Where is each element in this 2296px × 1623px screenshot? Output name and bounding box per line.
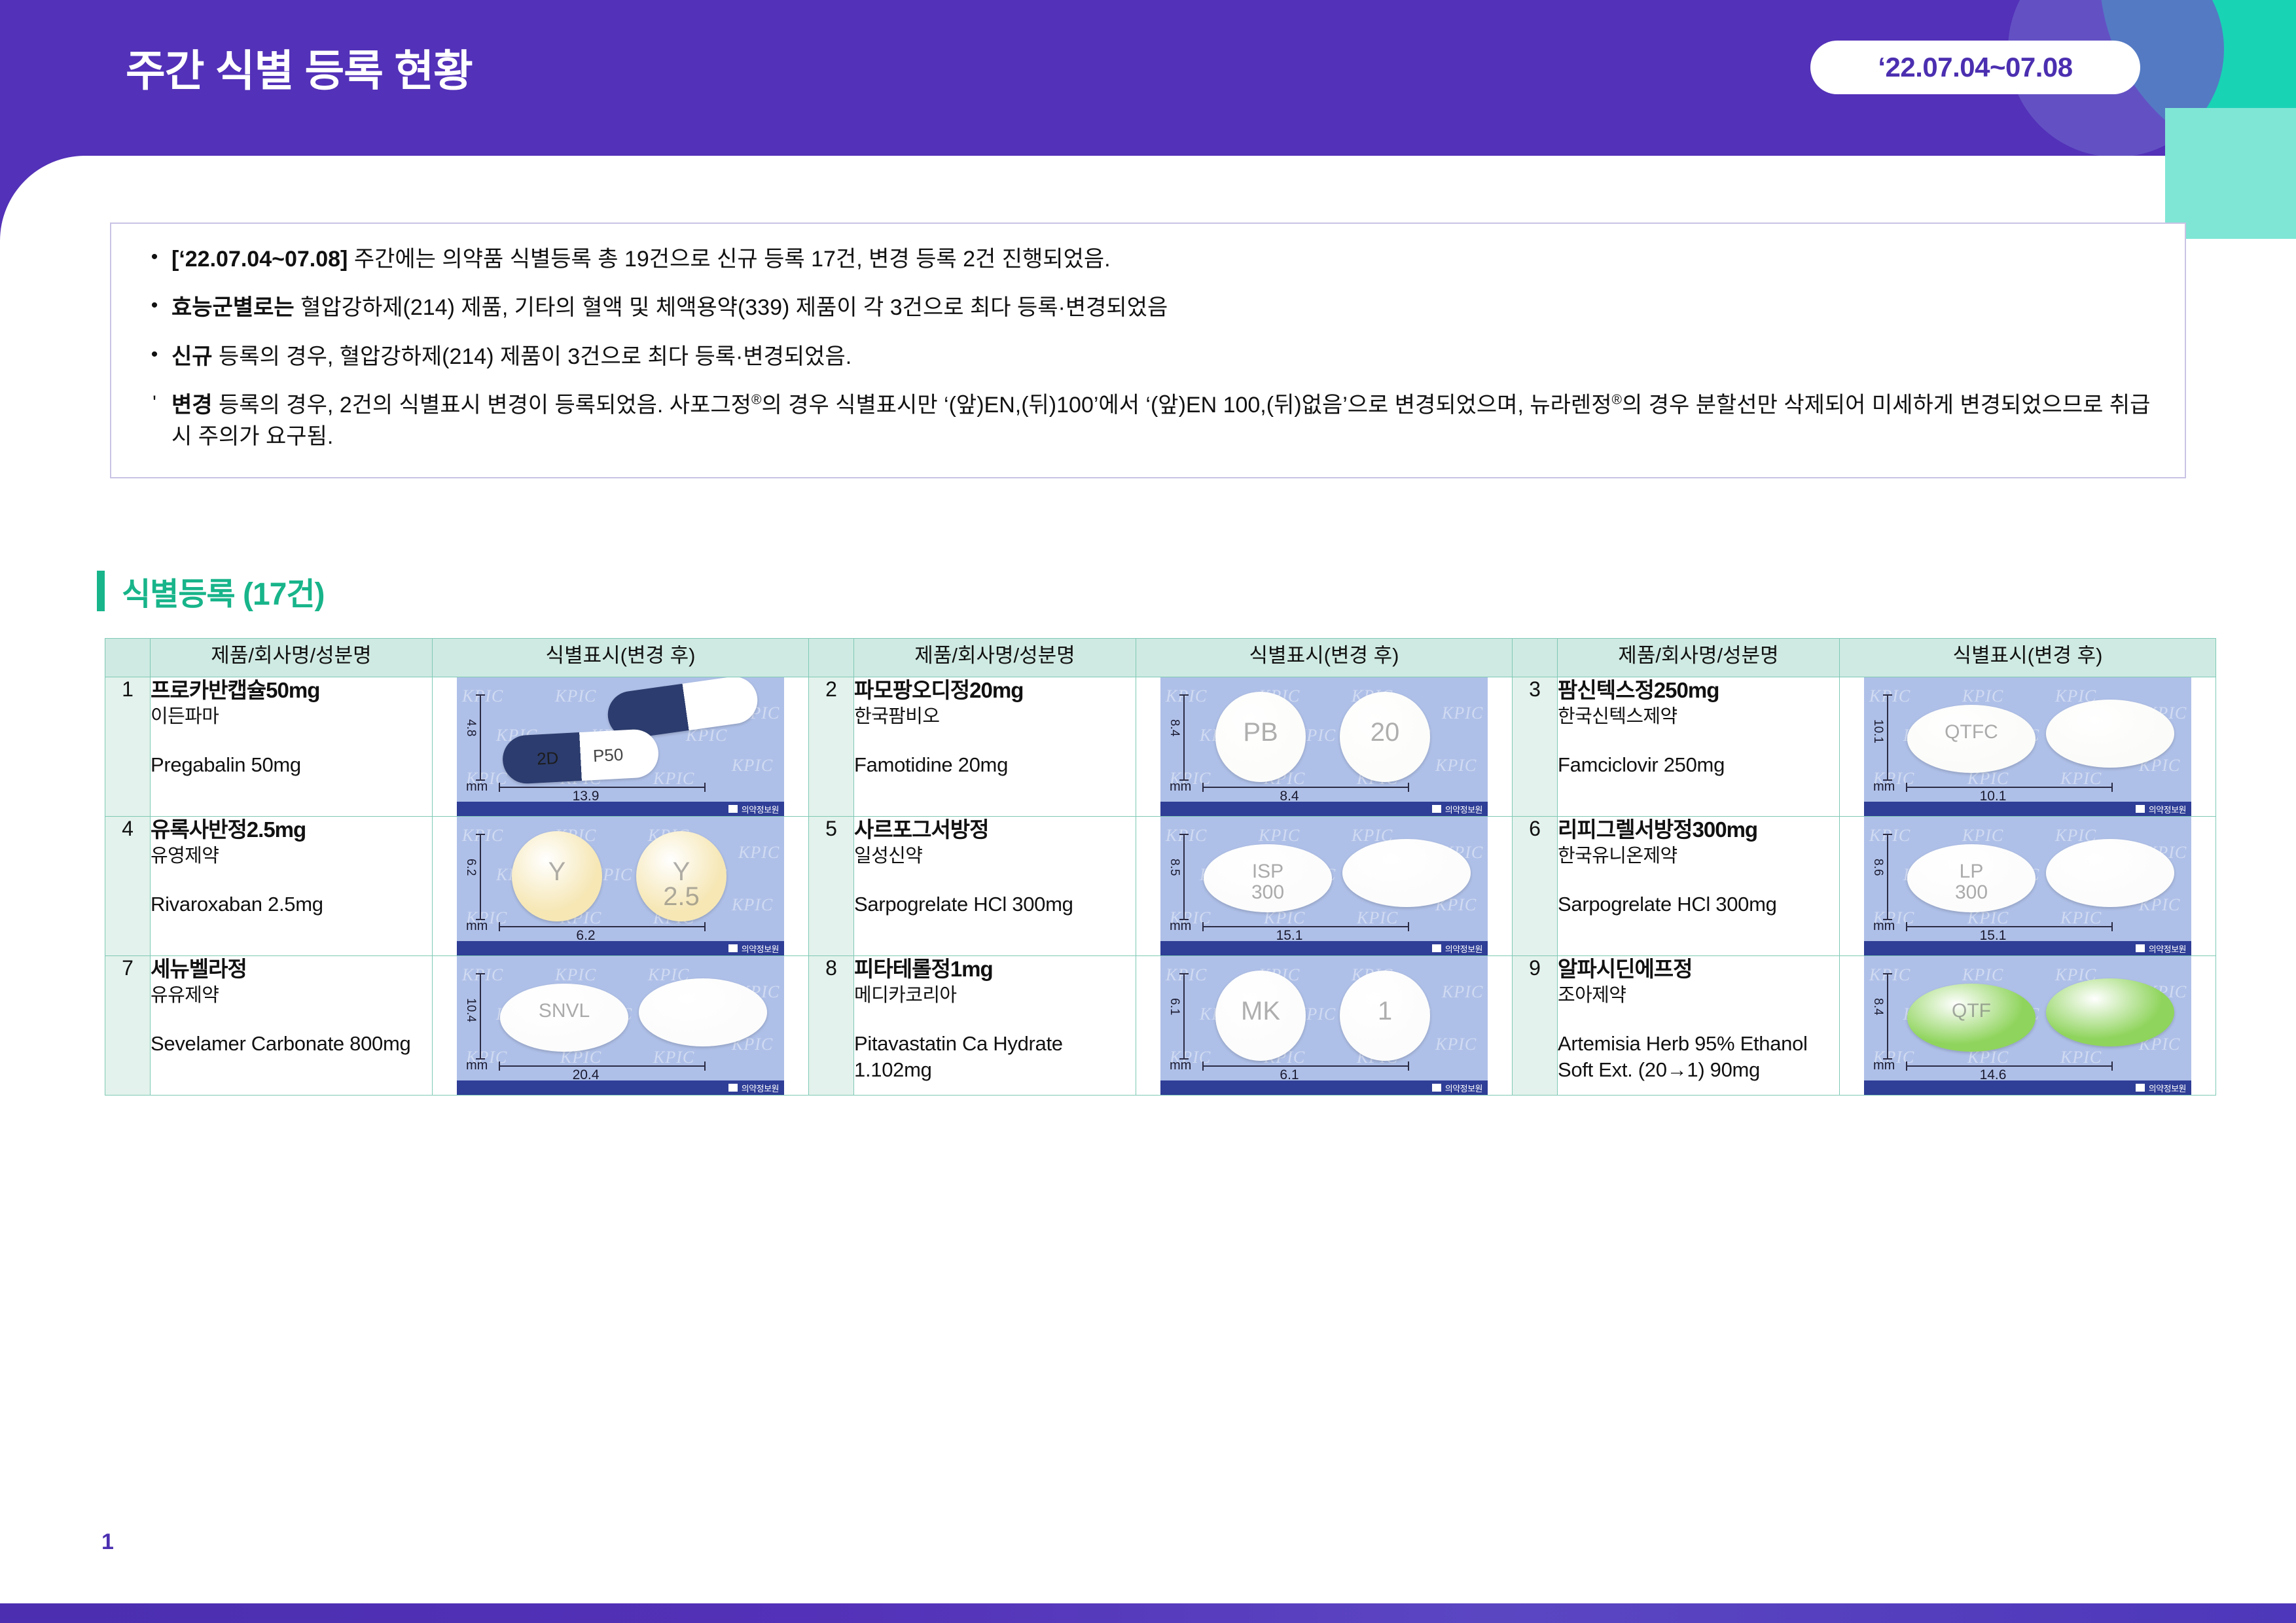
pill-tablet-front: LP 300 xyxy=(1907,844,2036,912)
pill-photo: KPICKPICKPICKPICKPICKPICKPICKPICKPICKPIC… xyxy=(1160,677,1488,816)
kpic-source-label: 의약정보원 xyxy=(2149,1082,2186,1094)
height-measure-ruler: 8.4 xyxy=(1873,973,1893,1060)
pill-stage: LP 300 xyxy=(1903,822,2178,932)
pill-stage: QTFC xyxy=(1903,683,2178,793)
kpic-source-bar: 의약정보원 xyxy=(457,802,784,816)
pill-imprint-text: SNVL xyxy=(500,1001,628,1022)
pill-tablet: Y xyxy=(512,831,602,921)
product-name: 팜신텍스정250mg xyxy=(1558,677,1839,704)
pill-imprint-right: P50 xyxy=(592,745,624,766)
ingredient-name: Artemisia Herb 95% Ethanol Soft Ext. (20… xyxy=(1558,1031,1839,1082)
pill-imprint-text: QTFC xyxy=(1907,722,2036,743)
kpic-source-label: 의약정보원 xyxy=(1445,1082,1482,1094)
width-measure-ruler: mm14.6 xyxy=(1873,1058,2113,1080)
pill-tablet-back xyxy=(2046,978,2174,1046)
product-name: 프로카반캡슐50mg xyxy=(151,677,432,704)
summary-box: •[‘22.07.04~07.08] 주간에는 의약품 식별등록 총 19건으로… xyxy=(110,223,2186,478)
kpic-logo-icon xyxy=(728,944,738,952)
product-info-cell: 리피그렐서방정300mg한국유니온제약Sarpogrelate HCl 300m… xyxy=(1558,817,1840,956)
kpic-source-label: 의약정보원 xyxy=(1445,942,1482,955)
kpic-logo-icon xyxy=(1432,805,1441,813)
product-info-cell: 피타테롤정1mg메디카코리아Pitavastatin Ca Hydrate 1.… xyxy=(854,956,1136,1096)
pill-imprint-left: 2D xyxy=(536,748,559,770)
ingredient-name: Sarpogrelate HCl 300mg xyxy=(1558,891,1839,918)
pill-imprint-text: 1 xyxy=(1340,999,1430,1024)
pill-tablet-front: ISP 300 xyxy=(1204,844,1332,912)
ingredient-name: Sevelamer Carbonate 800mg xyxy=(151,1031,432,1057)
pill-tablet: 20 xyxy=(1340,692,1430,782)
height-measure-label: 6.2 xyxy=(463,859,478,876)
row-index-cell: 2 xyxy=(809,677,854,817)
row-index-cell: 6 xyxy=(1513,817,1558,956)
pill-stage: SNVL xyxy=(496,961,771,1071)
height-measure-ruler: 6.2 xyxy=(466,834,486,920)
kpic-logo-icon xyxy=(2136,944,2145,952)
company-name: 이든파마 xyxy=(151,705,432,730)
product-name: 유록사반정2.5mg xyxy=(151,817,432,843)
pill-image-cell: KPICKPICKPICKPICKPICKPICKPICKPICKPICKPIC… xyxy=(433,817,809,956)
height-measure-label: 4.8 xyxy=(463,719,478,736)
pill-tablet: MK xyxy=(1215,971,1306,1061)
product-name: 파모팡오디정20mg xyxy=(854,677,1136,704)
pill-stage: PB20 xyxy=(1200,683,1475,793)
pill-stage: 2DP50 xyxy=(496,683,771,793)
kpic-source-bar: 의약정보원 xyxy=(1160,802,1488,816)
pill-tablet-back xyxy=(1342,839,1471,907)
kpic-source-bar: 의약정보원 xyxy=(1864,1080,2191,1095)
col-header-product-3: 제품/회사명/성분명 xyxy=(1558,639,1840,677)
company-name: 한국팜비오 xyxy=(854,705,1136,730)
pill-imprint-text: MK xyxy=(1215,999,1306,1024)
kpic-source-bar: 의약정보원 xyxy=(1160,941,1488,955)
pill-stage: QTF xyxy=(1903,961,2178,1071)
row-index-cell: 8 xyxy=(809,956,854,1096)
product-info-cell: 프로카반캡슐50mg이든파마Pregabalin 50mg xyxy=(151,677,433,817)
ingredient-name: Sarpogrelate HCl 300mg xyxy=(854,891,1136,918)
ingredient-name: Rivaroxaban 2.5mg xyxy=(151,891,432,918)
pill-tablet: 1 xyxy=(1340,971,1430,1061)
table-body: 1프로카반캡슐50mg이든파마Pregabalin 50mgKPICKPICKP… xyxy=(105,677,2216,1096)
col-header-product-2: 제품/회사명/성분명 xyxy=(854,639,1136,677)
height-measure-ruler: 8.4 xyxy=(1170,694,1189,781)
col-header-number-1 xyxy=(105,639,151,677)
pill-tablet-front: SNVL xyxy=(500,984,628,1052)
page-header: 주간 식별 등록 현황 ‘22.07.04~07.08 xyxy=(0,0,2296,156)
width-measure-ruler: mm15.1 xyxy=(1170,919,1409,941)
pill-imprint-text: Y xyxy=(512,859,602,884)
summary-bullet-text: 신규 등록의 경우, 혈압강하제(214) 제품이 3건으로 최다 등록·변경되… xyxy=(171,341,2159,372)
col-header-number-2 xyxy=(809,639,854,677)
height-measure-ruler: 10.4 xyxy=(466,973,486,1060)
product-info-cell: 파모팡오디정20mg한국팜비오Famotidine 20mg xyxy=(854,677,1136,817)
pill-imprint-text: Y 2.5 xyxy=(636,859,726,909)
section-heading-label: 식별등록 (17건) xyxy=(122,568,325,614)
registration-table: 제품/회사명/성분명 식별표시(변경 후) 제품/회사명/성분명 식별표시(변경… xyxy=(105,638,2216,1096)
kpic-source-label: 의약정보원 xyxy=(742,1082,779,1094)
height-measure-ruler: 10.1 xyxy=(1873,694,1893,781)
company-name: 일성신약 xyxy=(854,844,1136,869)
bullet-marker-icon: • xyxy=(137,341,171,369)
company-name: 조아제약 xyxy=(1558,984,1839,1008)
product-info-cell: 유록사반정2.5mg유영제약Rivaroxaban 2.5mg xyxy=(151,817,433,956)
pill-tablet: PB xyxy=(1215,692,1306,782)
height-measure-label: 8.4 xyxy=(1871,998,1885,1015)
kpic-logo-icon xyxy=(728,805,738,813)
date-range-badge: ‘22.07.04~07.08 xyxy=(1810,41,2140,94)
summary-bullet-3: •신규 등록의 경우, 혈압강하제(214) 제품이 3건으로 최다 등록·변경… xyxy=(137,341,2159,372)
product-name: 알파시딘에프정 xyxy=(1558,956,1839,982)
company-name: 한국유니온제약 xyxy=(1558,844,1839,869)
width-measure-ruler: mm15.1 xyxy=(1873,919,2113,941)
pill-image-cell: KPICKPICKPICKPICKPICKPICKPICKPICKPICKPIC… xyxy=(433,677,809,817)
kpic-source-label: 의약정보원 xyxy=(2149,942,2186,955)
kpic-source-label: 의약정보원 xyxy=(1445,803,1482,815)
pill-capsule-front: 2DP50 xyxy=(501,728,660,785)
pill-image-cell: KPICKPICKPICKPICKPICKPICKPICKPICKPICKPIC… xyxy=(1136,677,1513,817)
pill-imprint-text: 20 xyxy=(1340,720,1430,745)
height-measure-label: 10.4 xyxy=(463,998,478,1022)
bullet-marker-icon: ' xyxy=(137,389,171,418)
row-index-cell: 4 xyxy=(105,817,151,956)
col-header-image-1: 식별표시(변경 후) xyxy=(433,639,809,677)
pill-tablet-back xyxy=(639,978,767,1046)
summary-bullet-list: •[‘22.07.04~07.08] 주간에는 의약품 식별등록 총 19건으로… xyxy=(137,243,2159,452)
height-measure-label: 10.1 xyxy=(1871,719,1885,743)
product-name: 사르포그서방정 xyxy=(854,817,1136,843)
ingredient-name: Pitavastatin Ca Hydrate 1.102mg xyxy=(854,1031,1136,1082)
row-index-cell: 9 xyxy=(1513,956,1558,1096)
row-index-cell: 7 xyxy=(105,956,151,1096)
registration-table-wrapper: 제품/회사명/성분명 식별표시(변경 후) 제품/회사명/성분명 식별표시(변경… xyxy=(105,638,2211,1096)
pill-photo: KPICKPICKPICKPICKPICKPICKPICKPICKPICKPIC… xyxy=(1864,677,2191,816)
product-info-cell: 알파시딘에프정조아제약Artemisia Herb 95% Ethanol So… xyxy=(1558,956,1840,1096)
height-measure-label: 6.1 xyxy=(1167,998,1181,1015)
height-measure-label: 8.4 xyxy=(1167,719,1181,736)
pill-photo: KPICKPICKPICKPICKPICKPICKPICKPICKPICKPIC… xyxy=(1160,956,1488,1095)
kpic-source-bar: 의약정보원 xyxy=(1864,802,2191,816)
height-measure-ruler: 4.8 xyxy=(466,694,486,781)
product-name: 피타테롤정1mg xyxy=(854,956,1136,982)
width-measure-ruler: mm10.1 xyxy=(1873,779,2113,802)
col-header-image-2: 식별표시(변경 후) xyxy=(1136,639,1513,677)
summary-bullet-text: [‘22.07.04~07.08] 주간에는 의약품 식별등록 총 19건으로 … xyxy=(171,243,2159,275)
bullet-marker-icon: • xyxy=(137,243,171,272)
pill-photo: KPICKPICKPICKPICKPICKPICKPICKPICKPICKPIC… xyxy=(1160,817,1488,955)
company-name: 메디카코리아 xyxy=(854,984,1136,1008)
height-measure-ruler: 6.1 xyxy=(1170,973,1189,1060)
kpic-source-label: 의약정보원 xyxy=(2149,803,2186,815)
width-measure-ruler: mm6.1 xyxy=(1170,1058,1409,1080)
pill-stage: ISP 300 xyxy=(1200,822,1475,932)
kpic-logo-icon xyxy=(2136,1084,2145,1092)
kpic-source-bar: 의약정보원 xyxy=(457,1080,784,1095)
kpic-source-bar: 의약정보원 xyxy=(457,941,784,955)
kpic-logo-icon xyxy=(1432,944,1441,952)
table-row: 4유록사반정2.5mg유영제약Rivaroxaban 2.5mgKPICKPIC… xyxy=(105,817,2216,956)
page-title: 주간 식별 등록 현황 xyxy=(126,36,473,99)
ingredient-name: Famciclovir 250mg xyxy=(1558,752,1839,778)
pill-tablet: Y 2.5 xyxy=(636,831,726,921)
pill-imprint-text: PB xyxy=(1215,720,1306,745)
summary-bullet-2: •효능군별로는 혈압강하제(214) 제품, 기타의 혈액 및 체액용약(339… xyxy=(137,292,2159,323)
kpic-source-label: 의약정보원 xyxy=(742,803,779,815)
kpic-logo-icon xyxy=(2136,805,2145,813)
pill-tablet-front: QTF xyxy=(1907,984,2036,1052)
pill-photo: KPICKPICKPICKPICKPICKPICKPICKPICKPICKPIC… xyxy=(457,817,784,955)
pill-imprint-text: LP 300 xyxy=(1907,861,2036,902)
section-accent-bar xyxy=(97,571,105,611)
summary-bullet-text: 효능군별로는 혈압강하제(214) 제품, 기타의 혈액 및 체액용약(339)… xyxy=(171,292,2159,323)
col-header-product-1: 제품/회사명/성분명 xyxy=(151,639,433,677)
ingredient-name: Pregabalin 50mg xyxy=(151,752,432,778)
product-info-cell: 세뉴벨라정유유제약Sevelamer Carbonate 800mg xyxy=(151,956,433,1096)
width-measure-ruler: mm8.4 xyxy=(1170,779,1409,802)
summary-bullet-4: '변경 등록의 경우, 2건의 식별표시 변경이 등록되었음. 사포그정®의 경… xyxy=(137,389,2159,453)
pill-photo: KPICKPICKPICKPICKPICKPICKPICKPICKPICKPIC… xyxy=(457,677,784,816)
kpic-source-bar: 의약정보원 xyxy=(1864,941,2191,955)
pill-tablet-back xyxy=(2046,839,2174,907)
height-measure-label: 8.5 xyxy=(1167,859,1181,876)
pill-image-cell: KPICKPICKPICKPICKPICKPICKPICKPICKPICKPIC… xyxy=(1136,817,1513,956)
pill-stage: YY 2.5 xyxy=(496,822,771,932)
kpic-source-bar: 의약정보원 xyxy=(1160,1080,1488,1095)
kpic-logo-icon xyxy=(728,1084,738,1092)
pill-photo: KPICKPICKPICKPICKPICKPICKPICKPICKPICKPIC… xyxy=(457,956,784,1095)
pill-tablet-front: QTFC xyxy=(1907,705,2036,773)
pill-image-cell: KPICKPICKPICKPICKPICKPICKPICKPICKPICKPIC… xyxy=(1136,956,1513,1096)
table-header-row: 제품/회사명/성분명 식별표시(변경 후) 제품/회사명/성분명 식별표시(변경… xyxy=(105,639,2216,677)
pill-imprint-text: QTF xyxy=(1907,1001,2036,1022)
pill-image-cell: KPICKPICKPICKPICKPICKPICKPICKPICKPICKPIC… xyxy=(1840,817,2216,956)
row-index-cell: 1 xyxy=(105,677,151,817)
pill-image-cell: KPICKPICKPICKPICKPICKPICKPICKPICKPICKPIC… xyxy=(433,956,809,1096)
company-name: 한국신텍스제약 xyxy=(1558,705,1839,730)
row-index-cell: 3 xyxy=(1513,677,1558,817)
table-head: 제품/회사명/성분명 식별표시(변경 후) 제품/회사명/성분명 식별표시(변경… xyxy=(105,639,2216,677)
product-name: 리피그렐서방정300mg xyxy=(1558,817,1839,843)
kpic-logo-icon xyxy=(1432,1084,1441,1092)
summary-bullet-text: 변경 등록의 경우, 2건의 식별표시 변경이 등록되었음. 사포그정®의 경우… xyxy=(171,389,2159,453)
width-measure-ruler: mm13.9 xyxy=(466,779,706,802)
ingredient-name: Famotidine 20mg xyxy=(854,752,1136,778)
pill-image-cell: KPICKPICKPICKPICKPICKPICKPICKPICKPICKPIC… xyxy=(1840,956,2216,1096)
bullet-marker-icon: • xyxy=(137,292,171,320)
company-name: 유유제약 xyxy=(151,984,432,1008)
summary-bullet-1: •[‘22.07.04~07.08] 주간에는 의약품 식별등록 총 19건으로… xyxy=(137,243,2159,275)
height-measure-ruler: 8.6 xyxy=(1873,834,1893,920)
col-header-number-3 xyxy=(1513,639,1558,677)
footer-gradient-bar xyxy=(0,1603,2296,1623)
height-measure-ruler: 8.5 xyxy=(1170,834,1189,920)
width-measure-ruler: mm6.2 xyxy=(466,919,706,941)
pill-image-cell: KPICKPICKPICKPICKPICKPICKPICKPICKPICKPIC… xyxy=(1840,677,2216,817)
teal-lower-decoration xyxy=(2165,108,2296,239)
col-header-image-3: 식별표시(변경 후) xyxy=(1840,639,2216,677)
pill-photo: KPICKPICKPICKPICKPICKPICKPICKPICKPICKPIC… xyxy=(1864,956,2191,1095)
pill-stage: MK1 xyxy=(1200,961,1475,1071)
pill-photo: KPICKPICKPICKPICKPICKPICKPICKPICKPICKPIC… xyxy=(1864,817,2191,955)
product-info-cell: 팜신텍스정250mg한국신텍스제약Famciclovir 250mg xyxy=(1558,677,1840,817)
table-row: 1프로카반캡슐50mg이든파마Pregabalin 50mgKPICKPICKP… xyxy=(105,677,2216,817)
pill-tablet-back xyxy=(2046,700,2174,768)
page-number: 1 xyxy=(101,1529,114,1555)
height-measure-label: 8.6 xyxy=(1871,859,1885,876)
product-name: 세뉴벨라정 xyxy=(151,956,432,982)
company-name: 유영제약 xyxy=(151,844,432,869)
width-measure-ruler: mm20.4 xyxy=(466,1058,706,1080)
row-index-cell: 5 xyxy=(809,817,854,956)
pill-imprint-text: ISP 300 xyxy=(1204,861,1332,902)
kpic-source-label: 의약정보원 xyxy=(742,942,779,955)
table-row: 7세뉴벨라정유유제약Sevelamer Carbonate 800mgKPICK… xyxy=(105,956,2216,1096)
section-heading: 식별등록 (17건) xyxy=(97,568,325,614)
product-info-cell: 사르포그서방정일성신약Sarpogrelate HCl 300mg xyxy=(854,817,1136,956)
